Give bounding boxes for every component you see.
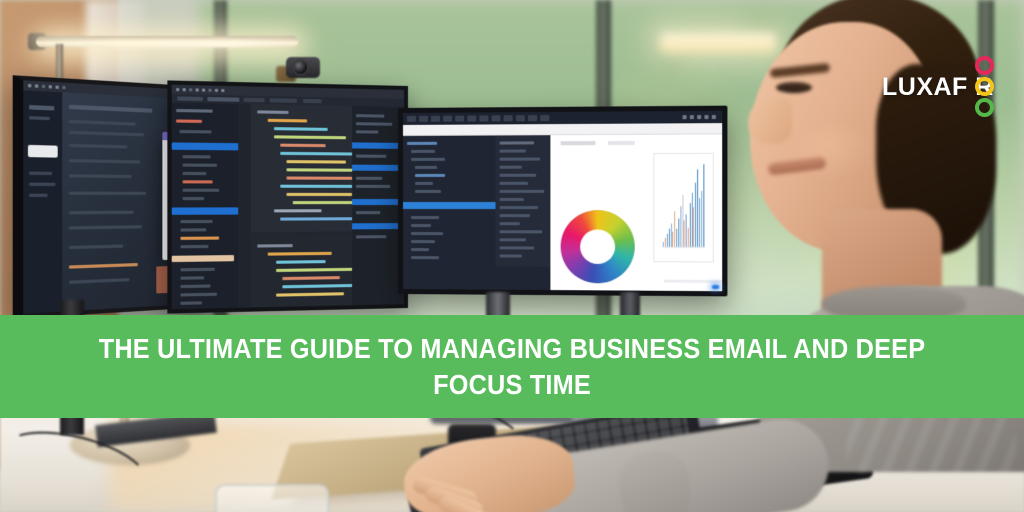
- dashboard-window-controls[interactable]: [682, 115, 715, 119]
- ide-code-pane-top[interactable]: [251, 104, 352, 232]
- title-banner: THE ULTIMATE GUIDE TO MANAGING BUSINESS …: [0, 315, 1024, 418]
- bar: [667, 233, 668, 246]
- webcam-lens-icon: [294, 61, 307, 74]
- bar: [697, 170, 698, 247]
- analytics-panel[interactable]: [550, 134, 722, 291]
- bar: [692, 193, 693, 247]
- ring-yellow-icon: [975, 77, 994, 96]
- bar: [703, 164, 704, 247]
- panel-label: [608, 141, 635, 145]
- bar: [682, 195, 683, 247]
- ide-gutter: [238, 104, 251, 308]
- chart-caption: [664, 280, 727, 283]
- dashboard-side-editor-2[interactable]: [495, 135, 552, 267]
- right-monitor[interactable]: [398, 106, 727, 297]
- list-row: [69, 174, 132, 178]
- chart-axis: [663, 247, 705, 248]
- list-row: [69, 245, 123, 250]
- left-window-controls: [28, 84, 66, 89]
- ide-minimap[interactable]: [352, 106, 404, 305]
- bar: [688, 227, 689, 247]
- list-row: [69, 278, 130, 284]
- blog-header-image: LUXAF R THE ULTIMATE GUIDE TO MANAGING B…: [0, 0, 1024, 512]
- ring-green-icon: [975, 98, 994, 117]
- nav-item: [29, 172, 52, 176]
- bar: [699, 197, 700, 247]
- bar: [701, 191, 702, 247]
- bar-chart: [663, 164, 705, 247]
- bar: [693, 207, 694, 247]
- list-row: [69, 159, 140, 164]
- bar: [684, 220, 685, 247]
- list-row: [69, 192, 146, 195]
- list-row: [69, 211, 134, 215]
- center-monitor-screen: [172, 85, 404, 310]
- eye: [776, 82, 812, 93]
- panel-label: [561, 141, 596, 145]
- monitor-power-led: [712, 285, 719, 289]
- list-row-accent: [69, 263, 138, 269]
- nav-item: [29, 194, 47, 197]
- left-nav-rail: [23, 90, 62, 313]
- list-row: [69, 225, 142, 229]
- bar: [665, 238, 666, 247]
- luxafor-rings: [975, 56, 995, 118]
- ide-file-tree[interactable]: [172, 103, 239, 310]
- bar: [695, 182, 696, 247]
- list-row: [69, 105, 152, 113]
- bar: [671, 224, 672, 247]
- drinking-glass: [215, 484, 329, 512]
- bar: [686, 215, 687, 247]
- ide-code-pane-bottom[interactable]: [251, 235, 352, 307]
- ide-window-controls: [176, 88, 224, 92]
- nav-highlight: [28, 145, 58, 158]
- nav-item: [29, 183, 55, 186]
- page-title: THE ULTIMATE GUIDE TO MANAGING BUSINESS …: [70, 331, 953, 401]
- lamp-glow: [46, 40, 296, 47]
- luxafor-logo[interactable]: LUXAF R: [882, 56, 995, 118]
- cheek: [796, 124, 876, 180]
- nose: [748, 98, 792, 144]
- office-photo: [0, 0, 1024, 512]
- dashboard-tabs[interactable]: [407, 115, 549, 122]
- list-row: [69, 144, 127, 149]
- center-monitor[interactable]: [167, 80, 408, 313]
- bar: [676, 228, 677, 247]
- bar: [678, 218, 679, 247]
- color-wheel-chart[interactable]: [561, 210, 635, 283]
- list-row: [69, 120, 136, 126]
- bar: [680, 206, 681, 247]
- ring-red-icon: [975, 56, 994, 75]
- bar: [674, 211, 675, 247]
- bar: [669, 229, 670, 247]
- right-monitor-screen: [403, 111, 722, 291]
- list-row: [69, 131, 144, 137]
- bar-chart-card[interactable]: [653, 153, 713, 263]
- bar: [690, 203, 691, 247]
- bar: [673, 232, 674, 247]
